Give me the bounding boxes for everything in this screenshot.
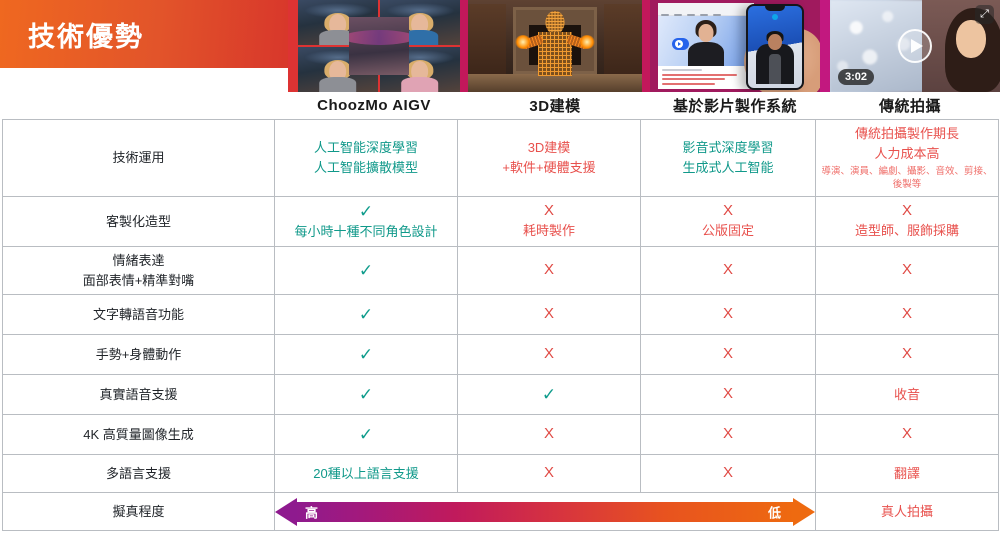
row-label-line: 4K 高質量圖像生成 xyxy=(6,425,271,445)
cross-icon: X xyxy=(819,261,995,280)
video-duration-badge: 3:02 xyxy=(838,69,874,85)
row-label-line: 手勢+身體動作 xyxy=(6,345,271,365)
cross-icon: X xyxy=(461,464,637,483)
table-cell: 收音 xyxy=(816,375,999,415)
arrow-bar xyxy=(295,502,795,522)
row-label-line: 多語言支援 xyxy=(6,464,271,484)
table-body: 技術運用人工智能深度學習人工智能擴散模型3D建模+軟件+硬體支援影音式深度學習生… xyxy=(3,120,999,531)
thumbnail-traditional: 3:02 ⤢ xyxy=(820,0,1000,92)
thumbnail-aigv xyxy=(288,0,460,92)
cross-icon: X xyxy=(644,202,812,221)
cell-text: 真人拍攝 xyxy=(881,504,933,519)
row-label-line: 文字轉語音功能 xyxy=(6,305,271,325)
check-icon: ✓ xyxy=(461,384,637,405)
phone-mockup xyxy=(746,4,804,90)
expand-icon[interactable]: ⤢ xyxy=(975,5,994,24)
cell-text: 影音式深度學習生成式人工智能 xyxy=(682,140,773,175)
table-cell: 20種以上語言支援 xyxy=(275,455,458,493)
column-captions: ChoozMo AIGV 3D建模 基於影片製作系統 傳統拍攝 xyxy=(288,92,1000,118)
row-label: 真實語音支援 xyxy=(3,375,275,415)
check-icon: ✓ xyxy=(278,260,454,281)
table-cell: 真人拍攝 xyxy=(816,493,999,531)
row-label: 客製化造型 xyxy=(3,196,275,246)
check-icon: ✓ xyxy=(278,304,454,325)
table-cell: ✓ xyxy=(458,375,641,415)
table-cell: X公版固定 xyxy=(641,196,816,246)
table-cell: X xyxy=(641,375,816,415)
row-label: 擬真程度 xyxy=(3,493,275,531)
cross-icon: X xyxy=(461,261,637,280)
cross-icon: X xyxy=(819,202,995,221)
cta-pill xyxy=(672,38,689,50)
wireframe-figure xyxy=(527,11,583,81)
cell-text: 每小時十種不同角色設計 xyxy=(294,224,437,239)
arrow-label-low: 低 xyxy=(768,502,781,521)
cell-text: 翻譯 xyxy=(894,466,920,481)
row-label-line: 技術運用 xyxy=(6,148,271,168)
table-row: 真實語音支援✓✓X收音 xyxy=(3,375,999,415)
table-cell: X xyxy=(816,415,999,455)
slide-root: 技術優勢 xyxy=(0,0,1000,547)
thumbnail-strip: 3:02 ⤢ xyxy=(288,0,1000,92)
check-icon: ✓ xyxy=(278,424,454,445)
table-row: 情緒表達面部表情+精準對嘴✓XXX xyxy=(3,247,999,295)
table-cell: 人工智能深度學習人工智能擴散模型 xyxy=(275,120,458,197)
column-caption-videosys: 基於影片製作系統 xyxy=(650,92,820,118)
3d-scene-image xyxy=(468,0,642,92)
table-cell: X xyxy=(641,335,816,375)
table-row: 技術運用人工智能深度學習人工智能擴散模型3D建模+軟件+硬體支援影音式深度學習生… xyxy=(3,120,999,197)
cross-icon: X xyxy=(819,425,995,444)
row-label: 情緒表達面部表情+精準對嘴 xyxy=(3,247,275,295)
table-cell: ✓ xyxy=(275,375,458,415)
table-cell: 3D建模+軟件+硬體支援 xyxy=(458,120,641,197)
table-cell: X xyxy=(816,247,999,295)
column-caption-aigv: ChoozMo AIGV xyxy=(288,92,460,118)
cross-icon: X xyxy=(819,305,995,324)
column-caption-3d: 3D建模 xyxy=(460,92,650,118)
row-label: 多語言支援 xyxy=(3,455,275,493)
table-cell: 影音式深度學習生成式人工智能 xyxy=(641,120,816,197)
cross-icon: X xyxy=(461,305,637,324)
table-cell: 傳統拍攝製作期長人力成本高導演、演員、編劇、攝影、音效、剪接、後製等 xyxy=(816,120,999,197)
anchor-grid-image xyxy=(298,0,460,92)
row-label-line: 面部表情+精準對嘴 xyxy=(6,271,271,291)
cell-text: 造型師、服飾採購 xyxy=(855,223,959,238)
cross-icon: X xyxy=(644,261,812,280)
cell-text: 傳統拍攝製作期長人力成本高 xyxy=(855,126,959,161)
table-cell: X xyxy=(816,335,999,375)
table-cell: ✓ xyxy=(275,247,458,295)
cell-text: 公版固定 xyxy=(702,223,754,238)
check-icon: ✓ xyxy=(278,344,454,365)
cell-note: 導演、演員、編劇、攝影、音效、剪接、後製等 xyxy=(819,166,995,192)
realism-arrow-cell: 高低 xyxy=(275,493,816,531)
cell-text: 收音 xyxy=(894,387,920,402)
table-row: 擬真程度高低真人拍攝 xyxy=(3,493,999,531)
table-cell: X xyxy=(458,455,641,493)
table-cell: X xyxy=(641,295,816,335)
row-label-line: 擬真程度 xyxy=(6,502,271,522)
cross-icon: X xyxy=(461,345,637,364)
row-label: 手勢+身體動作 xyxy=(3,335,275,375)
thumbnail-3d-model xyxy=(460,0,650,92)
table-cell: ✓ xyxy=(275,415,458,455)
check-icon: ✓ xyxy=(278,384,454,405)
check-icon: ✓ xyxy=(278,201,454,222)
column-caption-traditional: 傳統拍攝 xyxy=(820,92,1000,118)
arrow-head-right-icon xyxy=(793,498,815,526)
header-banner: 技術優勢 xyxy=(0,0,288,68)
cross-icon: X xyxy=(461,425,637,444)
web-ui-mockup xyxy=(658,3,754,89)
play-icon[interactable] xyxy=(898,29,932,63)
cross-icon: X xyxy=(461,202,637,221)
row-label-line: 情緒表達 xyxy=(6,251,271,271)
table-cell: X xyxy=(458,335,641,375)
row-label: 4K 高質量圖像生成 xyxy=(3,415,275,455)
table-cell: ✓每小時十種不同角色設計 xyxy=(275,196,458,246)
anchor-photo-center xyxy=(349,17,409,75)
table-row: 4K 高質量圖像生成✓XXX xyxy=(3,415,999,455)
table-cell: X xyxy=(458,295,641,335)
cross-icon: X xyxy=(819,345,995,364)
cell-text: 20種以上語言支援 xyxy=(313,466,418,481)
page-title: 技術優勢 xyxy=(0,15,144,54)
table-cell: X xyxy=(458,247,641,295)
table-row: 手勢+身體動作✓XXX xyxy=(3,335,999,375)
table-cell: X造型師、服飾採購 xyxy=(816,196,999,246)
table-row: 多語言支援20種以上語言支援XX翻譯 xyxy=(3,455,999,493)
table-cell: X xyxy=(458,415,641,455)
table-cell: ✓ xyxy=(275,335,458,375)
table-row: 客製化造型✓每小時十種不同角色設計X耗時製作X公版固定X造型師、服飾採購 xyxy=(3,196,999,246)
table-row: 文字轉語音功能✓XXX xyxy=(3,295,999,335)
comparison-table: 技術運用人工智能深度學習人工智能擴散模型3D建模+軟件+硬體支援影音式深度學習生… xyxy=(2,119,999,531)
cross-icon: X xyxy=(644,305,812,324)
cell-text: 3D建模+軟件+硬體支援 xyxy=(502,140,595,175)
cross-icon: X xyxy=(644,425,812,444)
cross-icon: X xyxy=(644,464,812,483)
table-cell: ✓ xyxy=(275,295,458,335)
thumbnail-video-system xyxy=(650,0,820,92)
table-cell: X xyxy=(641,247,816,295)
arrow-label-high: 高 xyxy=(305,502,318,521)
cross-icon: X xyxy=(644,345,812,364)
row-label-line: 真實語音支援 xyxy=(6,385,271,405)
arrow-head-left-icon xyxy=(275,498,297,526)
cross-icon: X xyxy=(644,385,812,404)
row-label-line: 客製化造型 xyxy=(6,212,271,232)
realism-gradient-arrow: 高低 xyxy=(275,498,815,526)
table-cell: 翻譯 xyxy=(816,455,999,493)
cell-text: 耗時製作 xyxy=(523,223,575,238)
table-cell: X耗時製作 xyxy=(458,196,641,246)
video-player-image: 3:02 ⤢ xyxy=(830,0,1000,92)
row-label: 文字轉語音功能 xyxy=(3,295,275,335)
cell-text: 人工智能深度學習人工智能擴散模型 xyxy=(314,140,418,175)
table-cell: X xyxy=(641,415,816,455)
row-label: 技術運用 xyxy=(3,120,275,197)
table-cell: X xyxy=(816,295,999,335)
table-cell: X xyxy=(641,455,816,493)
